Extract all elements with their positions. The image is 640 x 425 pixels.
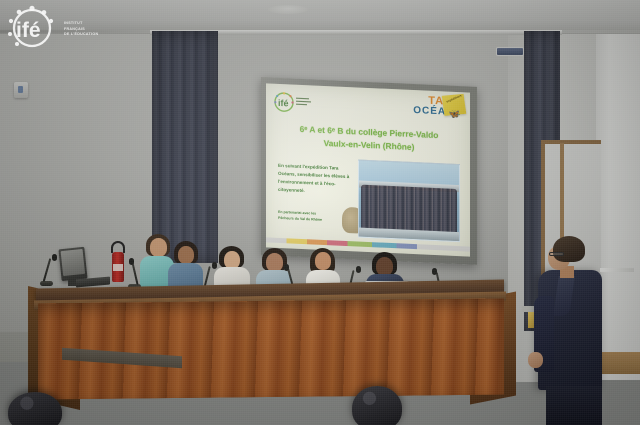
ife-watermark: ifé INSTITUT FRANÇAIS DE L'ÉDUCATION	[6, 5, 114, 51]
photograph-conference-room: ifé expéditions TARA OCÉANS 🦋 6ᵉ A et 6ᵉ…	[0, 0, 640, 425]
presenter-legs	[546, 386, 602, 425]
desktop-monitor	[58, 247, 87, 282]
slide-partner-text: En partenariat avec les Pêcheurs du Val …	[278, 210, 340, 224]
wall-sensor-device	[14, 82, 28, 98]
microphone-head-3	[212, 262, 217, 269]
ife-watermark-svg: ifé	[6, 5, 62, 51]
audience-head-left	[8, 392, 62, 425]
fire-extinguisher	[112, 252, 124, 282]
slide-body-text: En suivant l'expédition Tara Océans, sen…	[278, 162, 352, 197]
wall-sign	[496, 47, 524, 56]
svg-text:ifé: ifé	[278, 98, 289, 108]
monitor-stand	[68, 278, 76, 286]
tara-oceans-logo: expéditions TARA OCÉANS 🦋	[413, 95, 462, 118]
ife-logo-svg: ifé	[273, 91, 317, 115]
wall-handrail	[600, 268, 634, 272]
podium-wood-panel	[38, 299, 504, 400]
microphone-head-1	[52, 254, 57, 261]
butterfly-icon: 🦋	[449, 110, 460, 120]
presenter-hair	[553, 236, 585, 262]
presentation-slide: ifé expéditions TARA OCÉANS 🦋 6ᵉ A et 6ᵉ…	[266, 83, 470, 256]
right-pilaster	[596, 30, 640, 380]
sticker-label: expéditions	[442, 91, 465, 106]
slide-group-photo	[358, 160, 460, 243]
presenter-hand	[528, 352, 543, 368]
microphone-head-2	[129, 258, 134, 265]
ife-watermark-subtitle: INSTITUT FRANÇAIS DE L'ÉDUCATION	[64, 21, 98, 38]
microphone-head-4	[284, 264, 289, 271]
audience-head-center	[352, 386, 402, 425]
microphone-head-6	[432, 268, 437, 275]
ceiling-vent	[268, 5, 308, 14]
microphone-head-5	[356, 266, 361, 273]
watermark-line-3: DE L'ÉDUCATION	[64, 32, 98, 38]
photo-student-group	[361, 185, 457, 233]
curtain-left	[152, 31, 218, 263]
slide-ife-logo: ifé	[273, 91, 317, 115]
eyeglasses-icon	[549, 252, 564, 256]
slide-title: 6ᵉ A et 6ᵉ B du collège Pierre-Valdo Vau…	[278, 122, 460, 156]
projection-screen: ifé expéditions TARA OCÉANS 🦋 6ᵉ A et 6ᵉ…	[261, 77, 477, 265]
microphone-base-1	[40, 281, 53, 286]
svg-text:ifé: ifé	[16, 19, 41, 42]
